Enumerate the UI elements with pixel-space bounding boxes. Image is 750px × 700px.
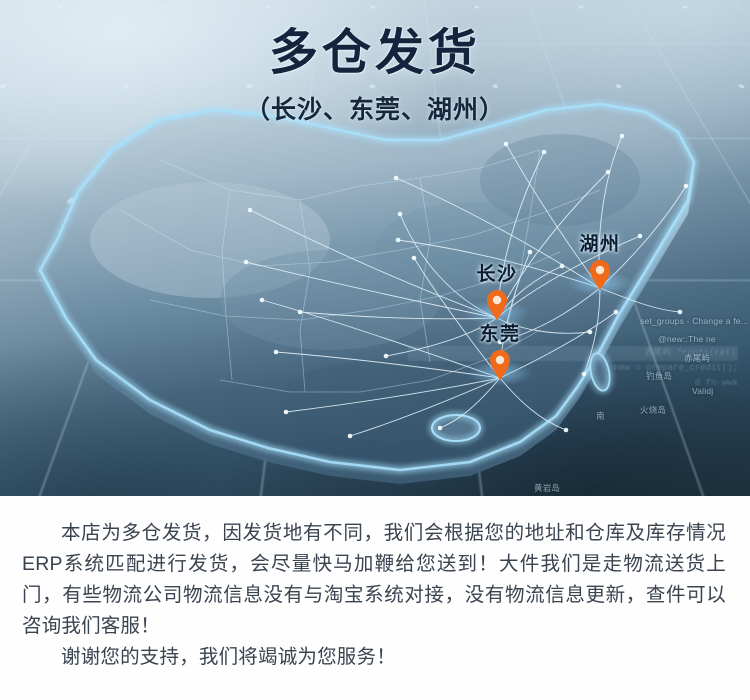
shipping-info-panel: 本店为多仓发货，因发货地有不同，我们会根据您的地址和仓库及库存情况ERP系统匹配… [0, 496, 750, 700]
map-marker-dongguan[interactable]: 东莞 [490, 348, 510, 380]
location-pin-icon[interactable] [490, 350, 510, 380]
map-hero-banner: 赤尾屿 "roots(ret) new = prepare_credit(); … [0, 0, 750, 496]
marker-label-huzhou: 湖州 [579, 229, 620, 256]
marker-label-dongguan: 东莞 [479, 319, 520, 346]
info-paragraph-main: 本店为多仓发货，因发货地有不同，我们会根据您的地址和仓库及库存情况ERP系统匹配… [22, 518, 726, 642]
map-marker-huzhou[interactable]: 湖州 [590, 258, 610, 290]
map-marker-changsha[interactable]: 长沙 [487, 288, 507, 320]
marker-label-changsha: 长沙 [476, 259, 517, 286]
location-pin-icon[interactable] [487, 290, 507, 320]
china-map-graphic [0, 0, 750, 496]
delivery-info-page: 赤尾屿 "roots(ret) new = prepare_credit(); … [0, 0, 750, 700]
location-pin-icon[interactable] [590, 260, 610, 290]
info-paragraph-thanks: 谢谢您的支持，我们将竭诚为您服务！ [22, 642, 726, 673]
